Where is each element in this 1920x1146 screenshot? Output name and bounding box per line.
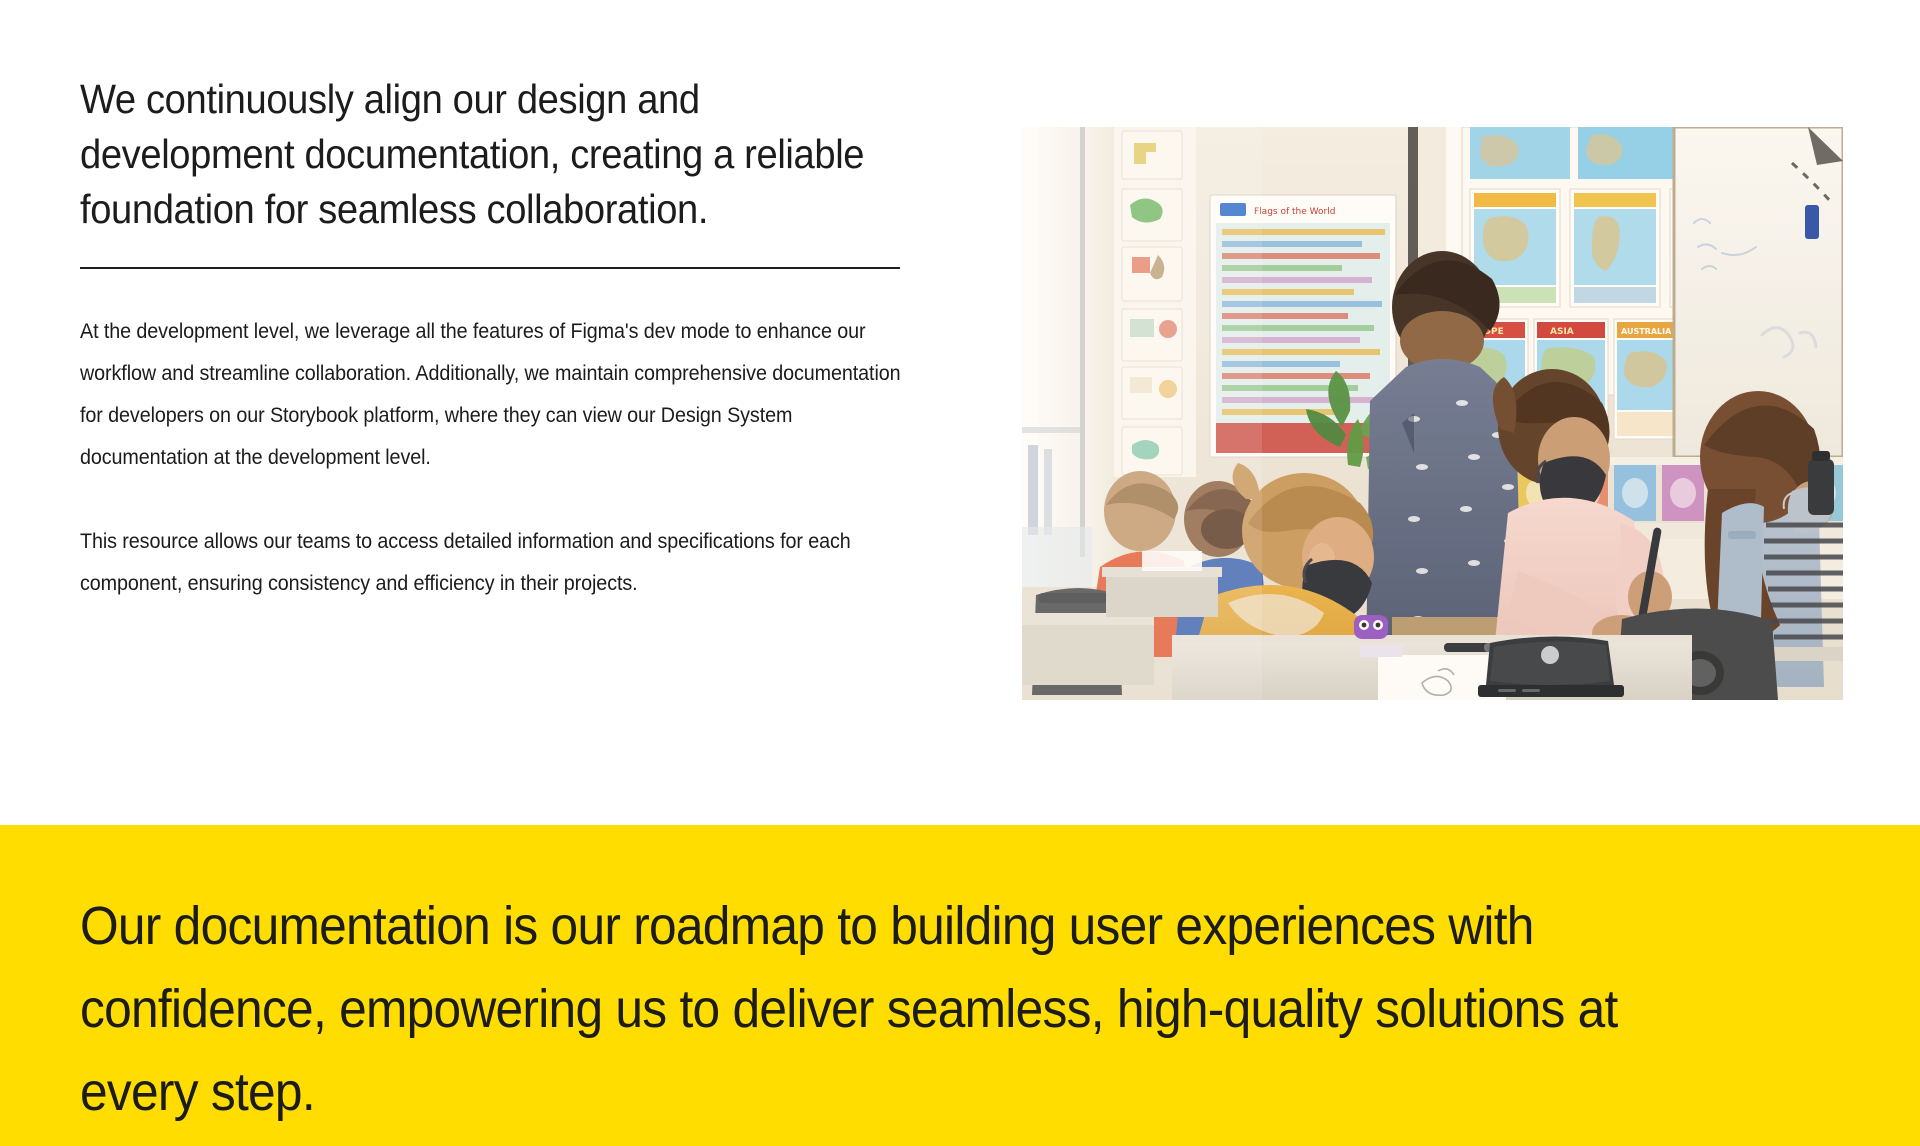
body-paragraph-1: At the development level, we leverage al…	[80, 311, 907, 479]
page-root: We continuously align our design and dev…	[0, 0, 1920, 1146]
callout-quote: Our documentation is our roadmap to buil…	[80, 885, 1681, 1134]
callout-band: Our documentation is our roadmap to buil…	[0, 825, 1920, 1146]
classroom-photo-illustration: Flags of the World	[1022, 127, 1843, 700]
section-headline: We continuously align our design and dev…	[80, 72, 917, 237]
text-column: We continuously align our design and dev…	[80, 72, 910, 605]
body-paragraph-2: This resource allows our teams to access…	[80, 521, 907, 605]
horizontal-divider	[80, 267, 900, 269]
classroom-photo: Flags of the World	[1022, 127, 1843, 700]
intro-section: We continuously align our design and dev…	[0, 0, 1920, 825]
